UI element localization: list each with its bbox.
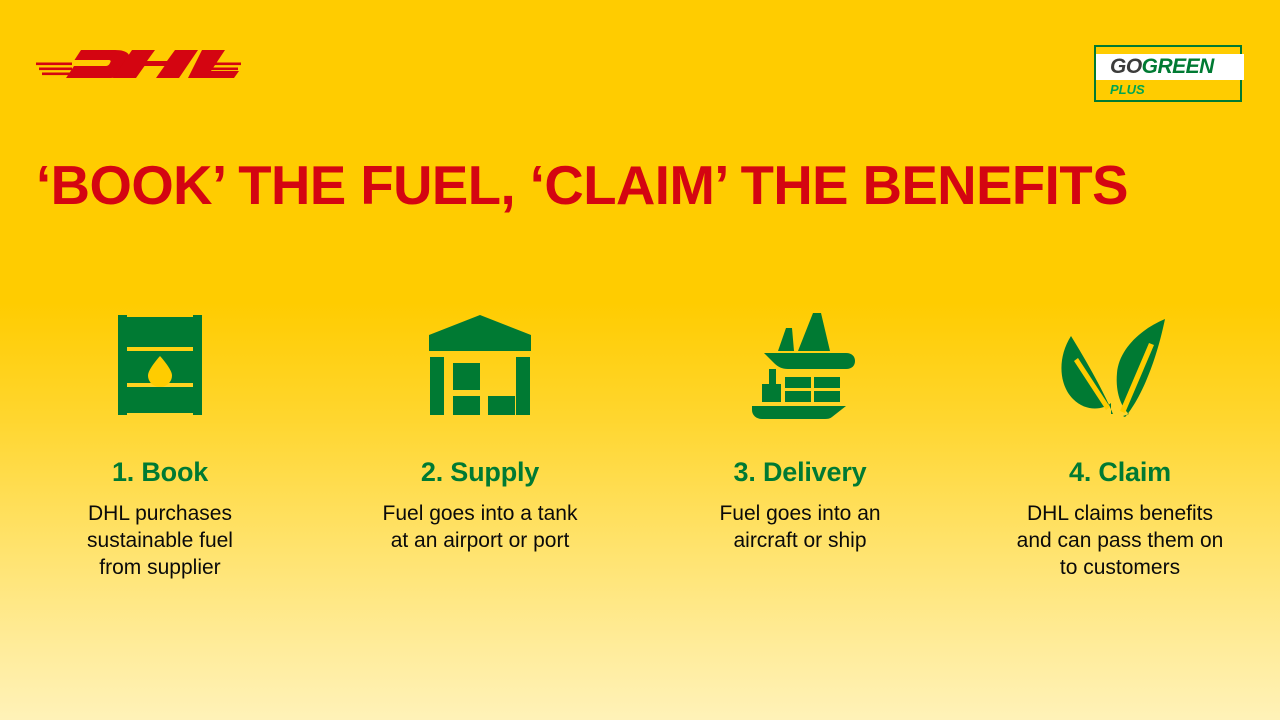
slide-header: GOGREEN PLUS — [0, 0, 1280, 120]
warehouse-icon — [427, 305, 533, 425]
gogreen-green-text: GREEN — [1142, 55, 1214, 78]
gogreen-plus-text: PLUS — [1110, 82, 1145, 97]
step-description: Fuel goes into a tank at an airport or p… — [383, 500, 578, 554]
step-1-book: 1. Book DHL purchases sustainable fuel f… — [0, 305, 320, 581]
leaves-icon — [1055, 305, 1185, 425]
page-title: ‘BOOK’ THE FUEL, ‘CLAIM’ THE BENEFITS — [36, 152, 1234, 218]
step-description: Fuel goes into an aircraft or ship — [719, 500, 880, 554]
step-description: DHL claims benefits and can pass them on… — [1017, 500, 1224, 581]
step-description: DHL purchases sustainable fuel from supp… — [87, 500, 233, 581]
slide: GOGREEN PLUS ‘BOOK’ THE FUEL, ‘CLAIM’ TH… — [0, 0, 1280, 720]
step-title: 1. Book — [112, 457, 208, 488]
aircraft-ship-icon — [742, 305, 858, 425]
step-2-supply: 2. Supply Fuel goes into a tank at an ai… — [320, 305, 640, 581]
process-steps: 1. Book DHL purchases sustainable fuel f… — [0, 305, 1280, 581]
dhl-logo — [36, 38, 241, 82]
step-title: 4. Claim — [1069, 457, 1171, 488]
step-title: 2. Supply — [421, 457, 539, 488]
gogreen-go-text: GO — [1110, 55, 1142, 78]
gogreen-plus-logo: GOGREEN PLUS — [1094, 45, 1242, 102]
step-3-delivery: 3. Delivery Fuel goes into an aircraft o… — [640, 305, 960, 581]
step-title: 3. Delivery — [734, 457, 867, 488]
step-4-claim: 4. Claim DHL claims benefits and can pas… — [960, 305, 1280, 581]
gogreen-wordmark: GOGREEN — [1110, 54, 1214, 80]
fuel-barrel-icon — [110, 305, 210, 425]
